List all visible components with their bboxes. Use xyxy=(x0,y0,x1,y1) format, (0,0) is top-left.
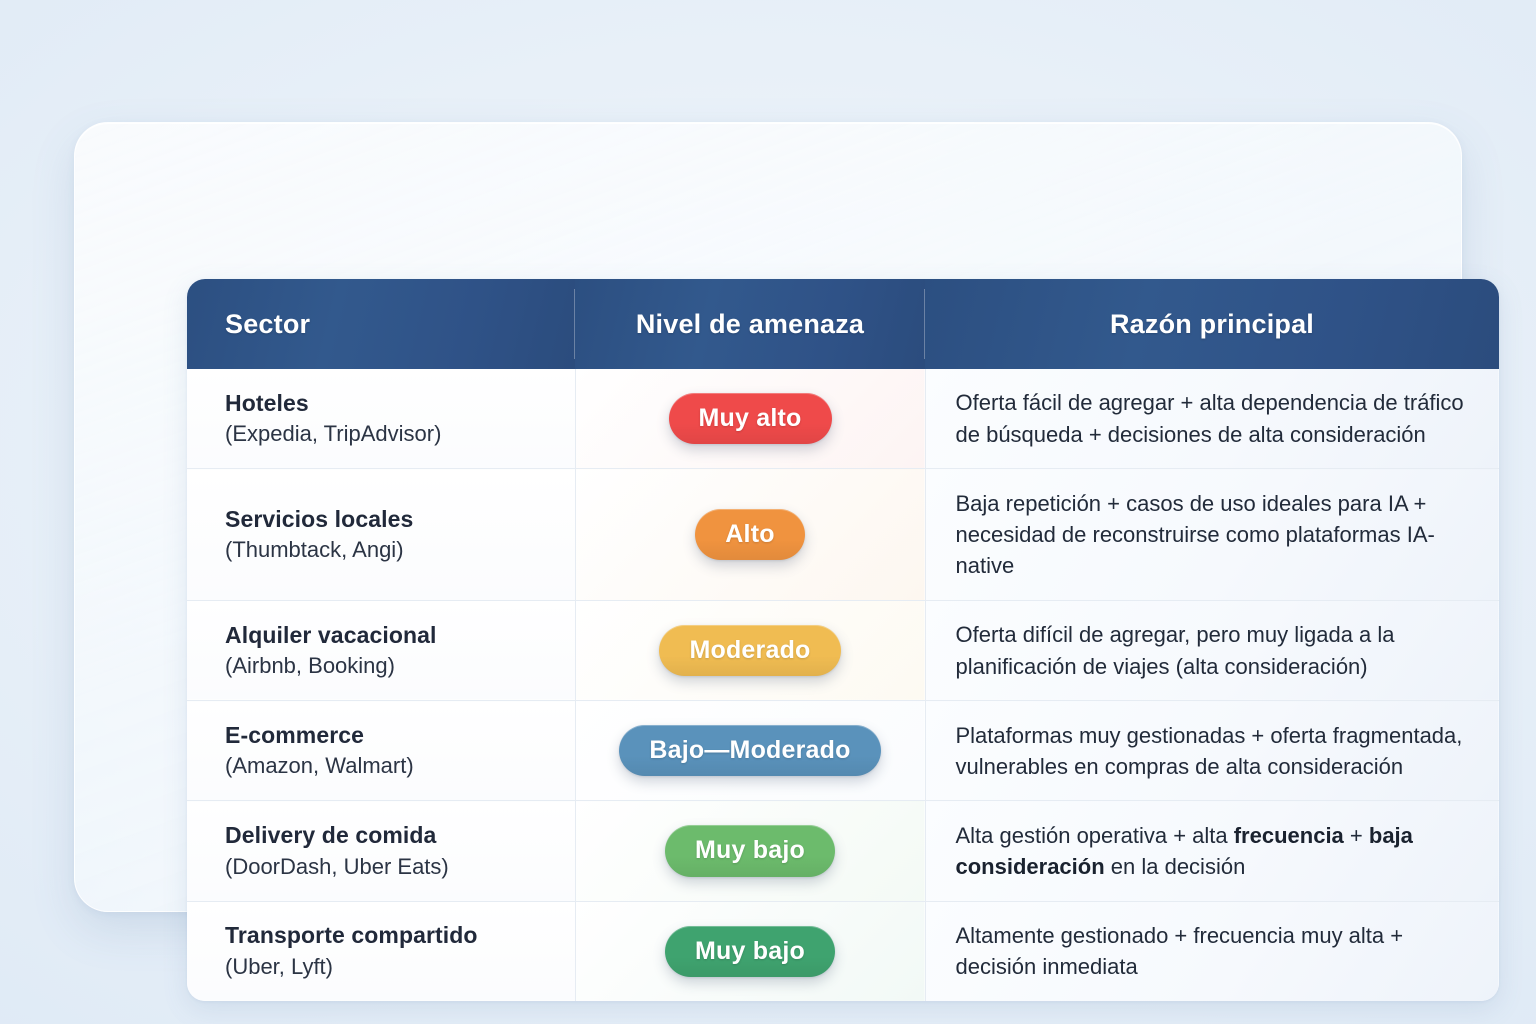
sector-companies: (Expedia, TripAdvisor) xyxy=(225,420,559,449)
table-row: Servicios locales(Thumbtack, Angi)AltoBa… xyxy=(187,469,1499,601)
threat-level-badge: Muy bajo xyxy=(665,825,835,876)
sector-companies: (DoorDash, Uber Eats) xyxy=(225,853,559,882)
table-row: Alquiler vacacional(Airbnb, Booking)Mode… xyxy=(187,600,1499,700)
cell-sector: E-commerce(Amazon, Walmart) xyxy=(187,701,575,801)
threat-level-badge: Muy alto xyxy=(669,393,832,444)
table-body: Hoteles(Expedia, TripAdvisor)Muy altoOfe… xyxy=(187,369,1499,1001)
cell-razon-principal: Oferta difícil de agregar, pero muy liga… xyxy=(925,600,1499,700)
cell-nivel-de-amenaza: Muy bajo xyxy=(575,901,925,1001)
cell-sector: Hoteles(Expedia, TripAdvisor) xyxy=(187,369,575,469)
column-header-nivel-de-amenaza: Nivel de amenaza xyxy=(575,279,925,369)
sector-name: Transporte compartido xyxy=(225,921,559,950)
cell-nivel-de-amenaza: Bajo—Moderado xyxy=(575,701,925,801)
threat-level-badge: Moderado xyxy=(659,625,840,676)
cell-nivel-de-amenaza: Alto xyxy=(575,469,925,601)
sector-name: Servicios locales xyxy=(225,505,559,534)
cell-sector: Delivery de comida(DoorDash, Uber Eats) xyxy=(187,801,575,901)
cell-sector: Transporte compartido(Uber, Lyft) xyxy=(187,901,575,1001)
sector-companies: (Thumbtack, Angi) xyxy=(225,536,559,565)
table-row: E-commerce(Amazon, Walmart)Bajo—Moderado… xyxy=(187,701,1499,801)
column-header-sector: Sector xyxy=(187,279,575,369)
threat-level-table-container: Sector Nivel de amenaza Razón principal … xyxy=(187,279,1499,1001)
sector-companies: (Amazon, Walmart) xyxy=(225,752,559,781)
table-row: Hoteles(Expedia, TripAdvisor)Muy altoOfe… xyxy=(187,369,1499,469)
table-header-row: Sector Nivel de amenaza Razón principal xyxy=(187,279,1499,369)
cell-nivel-de-amenaza: Moderado xyxy=(575,600,925,700)
cell-razon-principal: Altamente gestionado + frecuencia muy al… xyxy=(925,901,1499,1001)
cell-nivel-de-amenaza: Muy alto xyxy=(575,369,925,469)
table-row: Delivery de comida(DoorDash, Uber Eats)M… xyxy=(187,801,1499,901)
cell-razon-principal: Plataformas muy gestionadas + oferta fra… xyxy=(925,701,1499,801)
cell-razon-principal: Alta gestión operativa + alta frecuencia… xyxy=(925,801,1499,901)
cell-razon-principal: Baja repetición + casos de uso ideales p… xyxy=(925,469,1499,601)
threat-level-badge: Alto xyxy=(695,509,804,560)
table-header: Sector Nivel de amenaza Razón principal xyxy=(187,279,1499,369)
sector-companies: (Airbnb, Booking) xyxy=(225,652,559,681)
sector-name: Delivery de comida xyxy=(225,821,559,850)
threat-level-badge: Muy bajo xyxy=(665,926,835,977)
threat-level-badge: Bajo—Moderado xyxy=(619,725,880,776)
cell-sector: Servicios locales(Thumbtack, Angi) xyxy=(187,469,575,601)
card-frame: Sector Nivel de amenaza Razón principal … xyxy=(74,122,1462,912)
threat-level-table: Sector Nivel de amenaza Razón principal … xyxy=(187,279,1499,1001)
cell-razon-principal: Oferta fácil de agregar + alta dependenc… xyxy=(925,369,1499,469)
cell-sector: Alquiler vacacional(Airbnb, Booking) xyxy=(187,600,575,700)
sector-name: E-commerce xyxy=(225,721,559,750)
sector-companies: (Uber, Lyft) xyxy=(225,953,559,982)
column-header-razon-principal: Razón principal xyxy=(925,279,1499,369)
cell-nivel-de-amenaza: Muy bajo xyxy=(575,801,925,901)
sector-name: Hoteles xyxy=(225,389,559,418)
sector-name: Alquiler vacacional xyxy=(225,621,559,650)
table-row: Transporte compartido(Uber, Lyft)Muy baj… xyxy=(187,901,1499,1001)
